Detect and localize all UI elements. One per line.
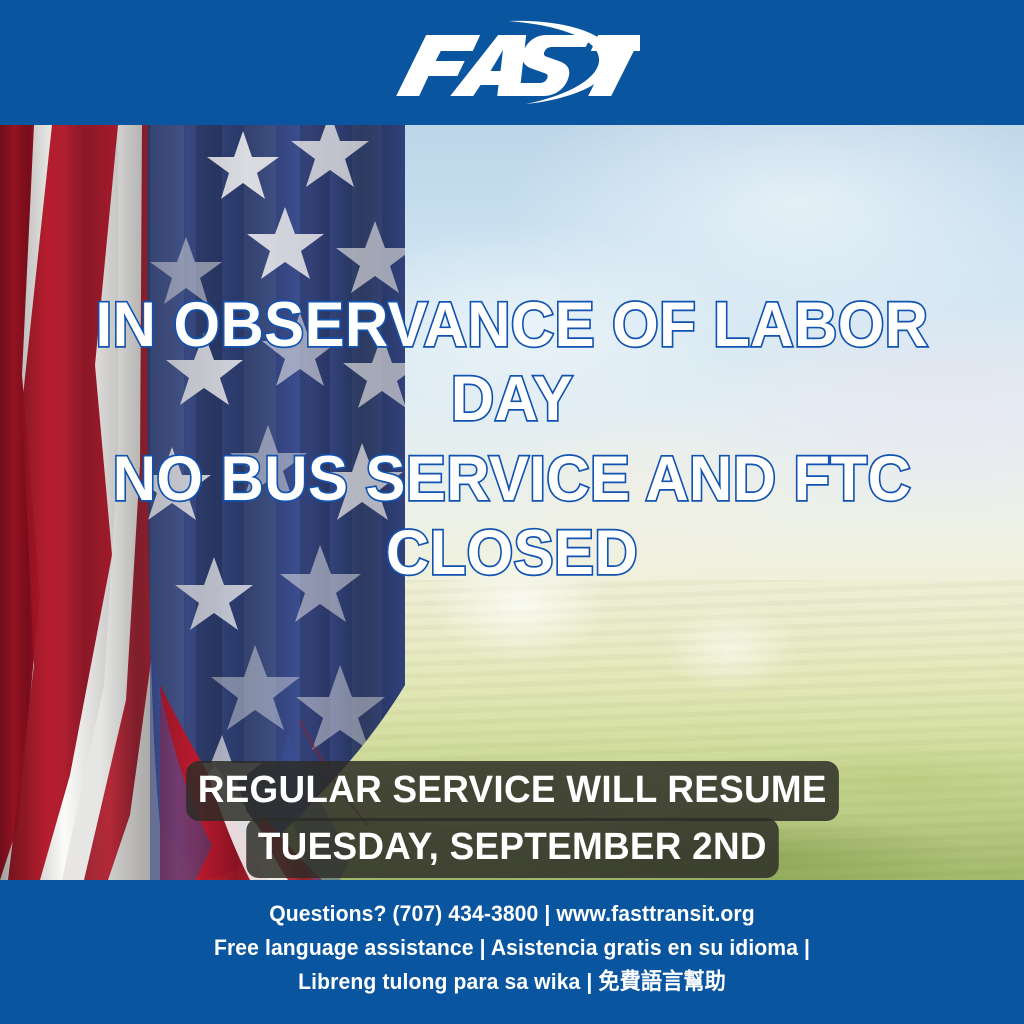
banner-row-1: REGULAR SERVICE WILL RESUME: [0, 761, 1024, 821]
footer-contact-line[interactable]: Questions? (707) 434-3800 | www.fasttran…: [31, 880, 994, 931]
fast-swoosh-logo-icon: [390, 17, 640, 109]
hero-photo: IN OBSERVANCE OF LABOR DAY NO BUS SERVIC…: [0, 125, 1024, 880]
labor-day-service-notice-poster: IN OBSERVANCE OF LABOR DAY NO BUS SERVIC…: [0, 0, 1024, 1024]
banner-row-2: TUESDAY, SEPTEMBER 2ND: [0, 818, 1024, 878]
light-glow-secondary: [660, 605, 800, 695]
banner-line-2: TUESDAY, SEPTEMBER 2ND: [246, 818, 778, 878]
footer-language-line-2: Libreng tulong para sa wika | 免費語言幫助: [31, 965, 994, 999]
headline-line-3: NO BUS SERVICE AND FTC: [26, 442, 999, 516]
brand-logo[interactable]: [0, 0, 1024, 125]
headline: IN OBSERVANCE OF LABOR DAY NO BUS SERVIC…: [26, 288, 999, 590]
headline-line-4: CLOSED: [26, 516, 999, 590]
headline-line-2: DAY: [26, 362, 999, 436]
service-resume-banner: REGULAR SERVICE WILL RESUME TUESDAY, SEP…: [0, 761, 1024, 878]
headline-line-1: IN OBSERVANCE OF LABOR: [26, 288, 999, 362]
header-bar: [0, 0, 1024, 125]
banner-line-1: REGULAR SERVICE WILL RESUME: [186, 761, 838, 821]
footer-bar: Questions? (707) 434-3800 | www.fasttran…: [0, 880, 1024, 1024]
footer-language-line-1: Free language assistance | Asistencia gr…: [31, 931, 994, 965]
